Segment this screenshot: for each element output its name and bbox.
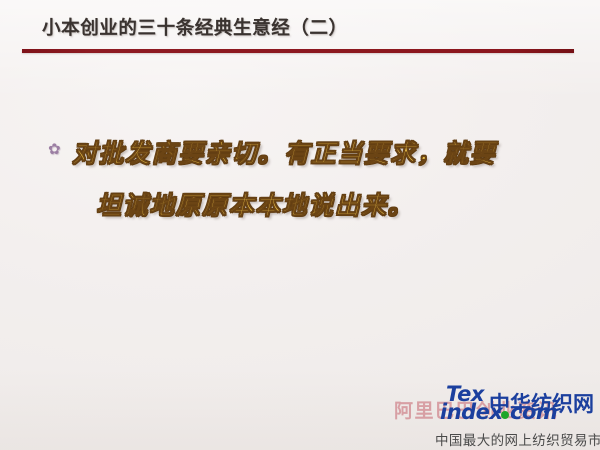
texindex-logo: Tex index com <box>440 384 552 426</box>
flower-bullet-icon: ✿ <box>48 142 63 157</box>
title-divider-rule <box>22 49 574 53</box>
bullet-list-item: ✿ 对批发商要亲切。有正当要求，就要 坦诚地原原本本地说出来。 <box>0 128 600 232</box>
logo-word-com: com <box>510 402 557 423</box>
body-text-line-2: 坦诚地原原本本地说出来。 <box>72 180 600 232</box>
watermark-tagline: 中国最大的网上纺织贸易市场 <box>435 429 600 449</box>
logo-word-index: index <box>440 402 502 423</box>
logo-green-dot-icon <box>501 411 509 419</box>
logo-word-tex: Tex <box>446 384 484 405</box>
page-title: 小本创业的三十条经典生意经（二） <box>42 14 348 40</box>
body-paragraph: 对批发商要亲切。有正当要求，就要 坦诚地原原本本地说出来。 <box>48 128 600 232</box>
watermark-secondary-text: 阿里巴巴创业资讯 <box>394 396 558 423</box>
presentation-slide: 小本创业的三十条经典生意经（二） ✿ 对批发商要亲切。有正当要求，就要 坦诚地原… <box>0 0 600 450</box>
slide-body-area: ✿ 对批发商要亲切。有正当要求，就要 坦诚地原原本本地说出来。 <box>0 128 600 232</box>
slide-title-area: 小本创业的三十条经典生意经（二） <box>0 14 600 54</box>
body-text-line-1: 对批发商要亲切。有正当要求，就要 <box>72 128 600 180</box>
watermark-site-name: 中华纺织网 <box>489 388 594 418</box>
